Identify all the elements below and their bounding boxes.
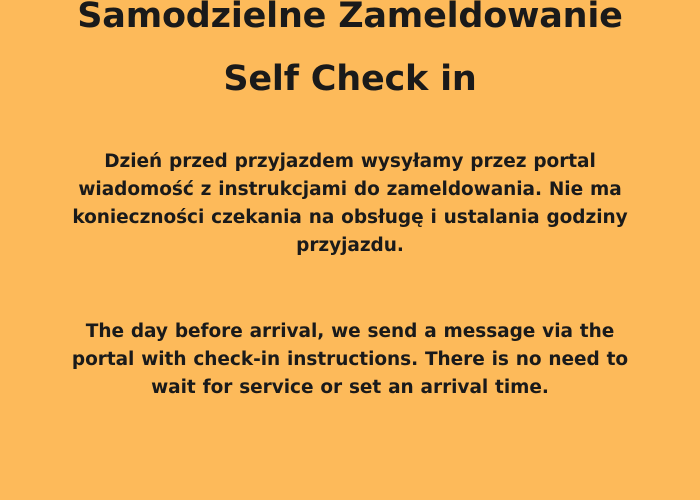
description-block-polish: Dzień przed przyjazdem wysyłamy przez po… xyxy=(67,148,633,260)
self-check-in-poster: Samodzielne Zameldowanie Self Check in D… xyxy=(0,0,700,500)
description-text-polish: Dzień przed przyjazdem wysyłamy przez po… xyxy=(67,148,633,260)
description-block-english: The day before arrival, we send a messag… xyxy=(67,318,633,402)
page-title-english: Self Check in xyxy=(0,55,700,103)
description-text-english: The day before arrival, we send a messag… xyxy=(67,318,633,402)
page-title-polish: Samodzielne Zameldowanie xyxy=(0,0,700,40)
heading-block: Samodzielne Zameldowanie Self Check in xyxy=(0,0,700,103)
